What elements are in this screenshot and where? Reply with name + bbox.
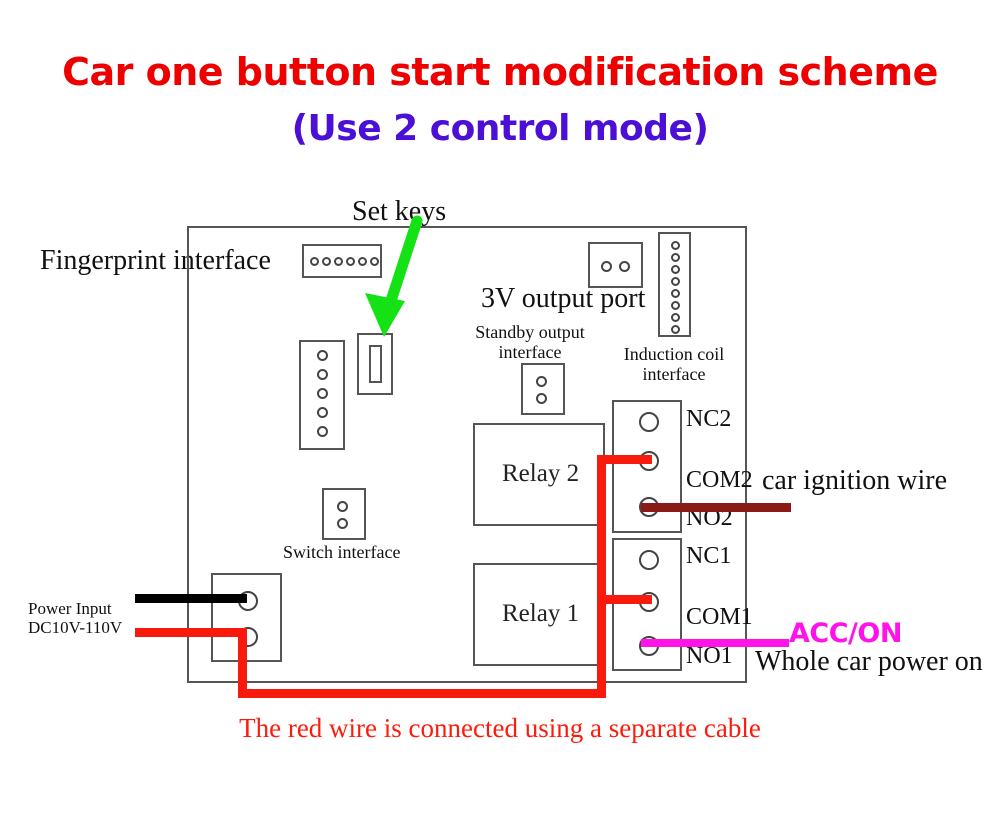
switch-interface-connector[interactable] — [322, 488, 366, 540]
terminal-label-nc1: NC1 — [686, 543, 731, 570]
terminal-label-com1: COM1 — [686, 604, 753, 631]
whole-car-power-on-label: Whole car power on — [755, 646, 983, 677]
standby-output-connector[interactable] — [521, 363, 565, 415]
power-positive-red-wire-stub — [135, 628, 247, 637]
connector-hole — [317, 426, 328, 437]
red-wire-branch-com1 — [597, 595, 652, 604]
power-input-label: Power Input DC10V-110V — [28, 599, 122, 637]
terminal-block-1[interactable] — [612, 538, 682, 671]
connector-hole — [671, 253, 680, 262]
terminal-block-2[interactable] — [612, 400, 682, 533]
connector-hole — [619, 261, 630, 272]
page-subtitle: (Use 2 control mode) — [0, 108, 1000, 149]
connector-hole — [671, 265, 680, 274]
connector-hole — [317, 369, 328, 380]
diagram-canvas: Car one button start modification scheme… — [0, 0, 1000, 819]
connector-hole — [334, 257, 343, 266]
connector-hole — [337, 501, 348, 512]
connector-hole — [346, 257, 355, 266]
power-negative-black-wire — [135, 594, 247, 603]
car-ignition-wire — [641, 503, 791, 512]
relay-1-label: Relay 1 — [502, 600, 579, 628]
terminal-label-no1: NO1 — [686, 643, 733, 670]
set-keys-arrow-icon — [355, 215, 425, 345]
connector-hole — [671, 301, 680, 310]
connector-hole — [536, 393, 547, 404]
power-input-label-line1: Power Input — [28, 599, 112, 618]
relay-2-label: Relay 2 — [502, 460, 579, 488]
connector-hole — [322, 257, 331, 266]
connector-hole — [671, 241, 680, 250]
acc-on-wire — [641, 639, 789, 647]
red-wire-segment-up — [597, 455, 606, 698]
left-vertical-connector[interactable] — [299, 340, 345, 450]
connector-hole — [671, 325, 680, 334]
3v-output-port-connector[interactable] — [588, 242, 643, 288]
red-wire-note: The red wire is connected using a separa… — [0, 713, 1000, 744]
connector-hole — [671, 289, 680, 298]
connector-hole — [310, 257, 319, 266]
page-title: Car one button start modification scheme — [0, 50, 1000, 94]
connector-hole — [671, 277, 680, 286]
connector-hole — [317, 388, 328, 399]
connector-hole — [317, 350, 328, 361]
connector-hole — [601, 261, 612, 272]
terminal-hole-nc1[interactable] — [639, 550, 659, 570]
connector-hole — [536, 376, 547, 387]
connector-hole — [337, 518, 348, 529]
induction-coil-connector[interactable] — [658, 232, 691, 337]
car-ignition-wire-label: car ignition wire — [762, 465, 947, 496]
power-input-label-line2: DC10V-110V — [28, 618, 122, 637]
connector-hole — [317, 407, 328, 418]
terminal-label-com2: COM2 — [686, 467, 753, 494]
acc-on-label: ACC/ON — [789, 618, 902, 649]
terminal-hole-nc2[interactable] — [639, 412, 659, 432]
red-wire-branch-com2 — [597, 455, 652, 464]
set-keys-button-cap — [369, 345, 382, 383]
connector-hole — [671, 313, 680, 322]
terminal-label-nc2: NC2 — [686, 406, 731, 433]
red-wire-segment-bottom — [238, 689, 606, 698]
red-wire-segment-down-left — [238, 628, 247, 698]
